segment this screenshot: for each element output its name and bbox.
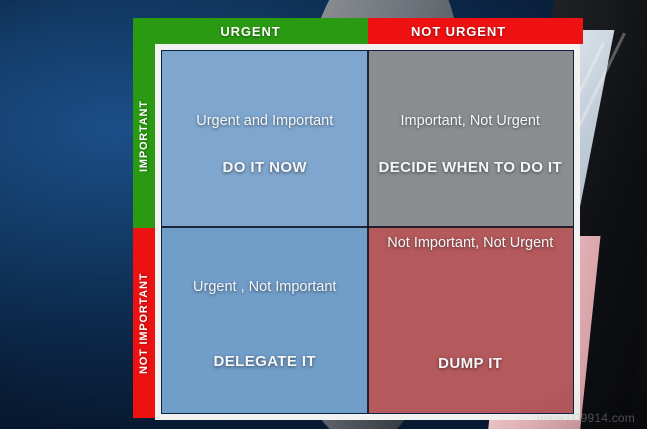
quadrant-tint xyxy=(368,227,574,413)
eisenhower-matrix-image: URGENT NOT URGENT IMPORTANT NOT IMPORTAN… xyxy=(0,0,647,429)
grid-divider-vertical xyxy=(367,51,369,413)
quadrant-tint xyxy=(162,227,368,413)
quadrant-delegate-it: Urgent , Not Important DELEGATE IT xyxy=(162,227,368,413)
matrix-frame: Urgent and Important DO IT NOW Important… xyxy=(155,44,580,420)
row-header-important: IMPORTANT xyxy=(133,44,155,228)
watermark: www.009914.com xyxy=(537,411,635,425)
row-header-important-label: IMPORTANT xyxy=(133,44,155,228)
quadrant-tint xyxy=(368,51,574,227)
quadrant-decide-when: Important, Not Urgent DECIDE WHEN TO DO … xyxy=(368,51,574,227)
matrix-grid: Urgent and Important DO IT NOW Important… xyxy=(161,50,574,414)
column-header-not-urgent: NOT URGENT xyxy=(368,18,583,44)
quadrant-dump-it: Not Important, Not Urgent DUMP IT xyxy=(368,227,574,413)
row-header-not-important: NOT IMPORTANT xyxy=(133,228,155,418)
grid-divider-horizontal xyxy=(162,226,573,228)
row-header-not-important-label: NOT IMPORTANT xyxy=(133,228,155,418)
column-header-urgent: URGENT xyxy=(133,18,368,44)
column-header-not-urgent-label: NOT URGENT xyxy=(368,18,583,44)
quadrant-do-it-now: Urgent and Important DO IT NOW xyxy=(162,51,368,227)
column-header-urgent-label: URGENT xyxy=(133,18,368,44)
quadrant-tint xyxy=(162,51,368,227)
